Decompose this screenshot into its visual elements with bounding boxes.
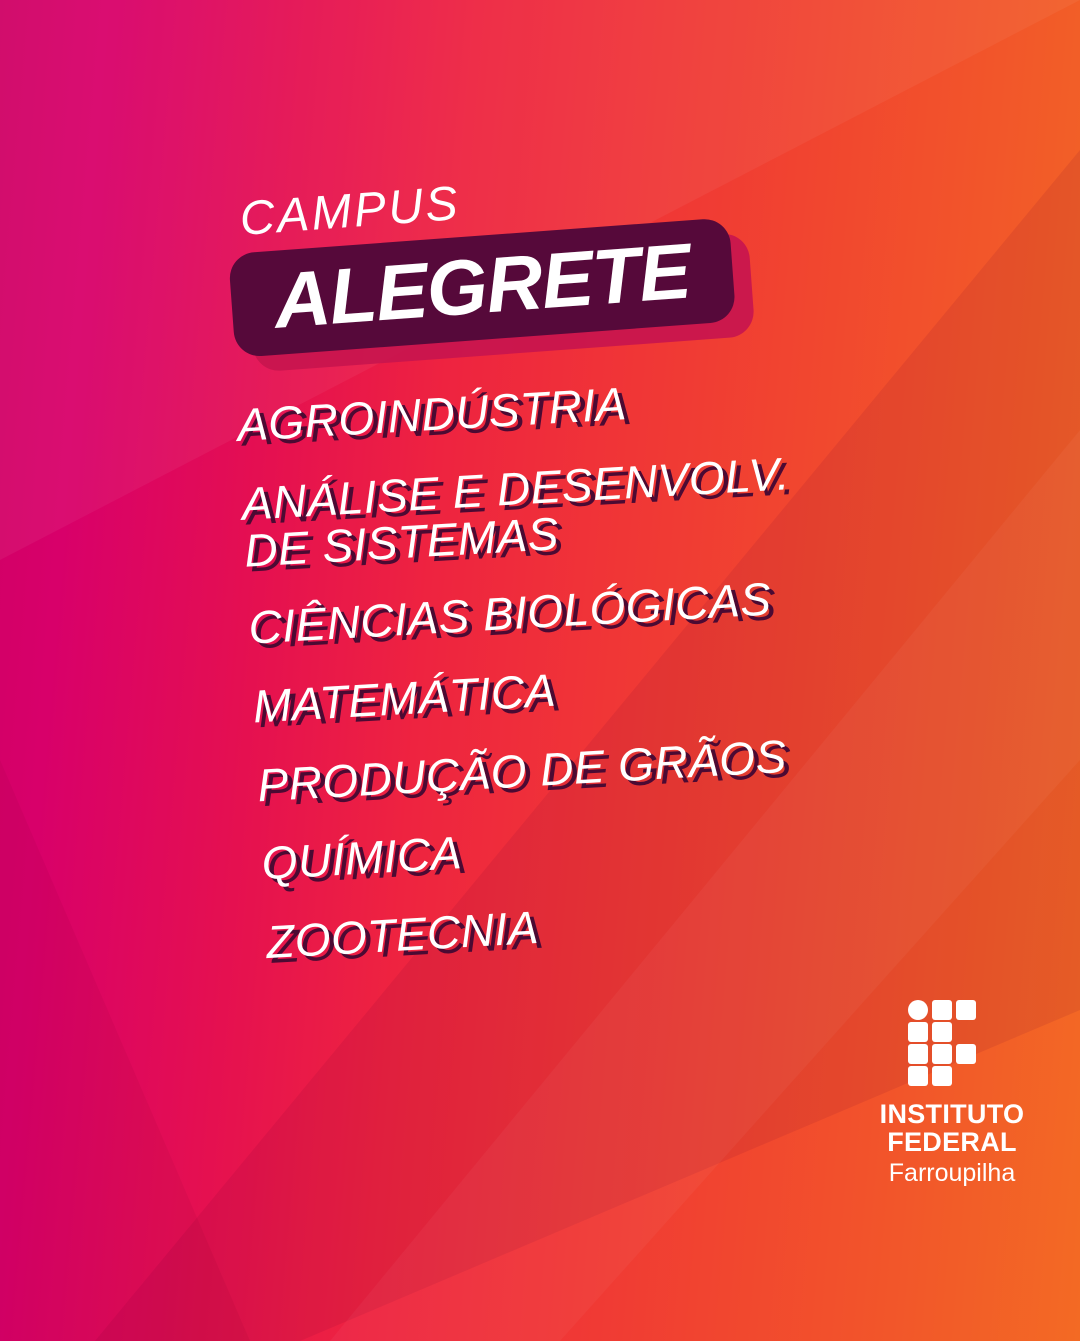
instituto-federal-logo: INSTITUTO FEDERAL Farroupilha (868, 1000, 1036, 1188)
logo-line-farroupilha: Farroupilha (868, 1158, 1036, 1188)
logo-line-instituto: INSTITUTO (868, 1100, 1036, 1128)
campus-header: CAMPUS ALEGRETE (232, 196, 832, 362)
course-item: CIÊNCIAS BIOLÓGICAS (247, 562, 1008, 651)
course-item: PRODUÇÃO DE GRÃOS (256, 720, 1017, 809)
course-item: MATEMÁTICA (252, 641, 1013, 730)
logo-line-federal: FEDERAL (868, 1128, 1036, 1156)
course-item: ZOOTECNIA (265, 877, 1026, 966)
course-list: AGROINDÚSTRIA ANÁLISE E DESENVOLV. DE SI… (236, 360, 1026, 967)
wedge-bottom-left (0, 760, 250, 1341)
course-item: AGROINDÚSTRIA (236, 360, 997, 449)
course-item: ANÁLISE E DESENVOLV. DE SISTEMAS (240, 438, 1004, 574)
eyebrow-label: CAMPUS (238, 153, 832, 244)
if-mark-icon (908, 1000, 996, 1086)
campus-name-label: ALEGRETE (271, 231, 692, 339)
course-item: QUÍMICA (261, 798, 1022, 887)
poster-canvas: CAMPUS ALEGRETE AGROINDÚSTRIA ANÁLISE E … (0, 0, 1080, 1341)
